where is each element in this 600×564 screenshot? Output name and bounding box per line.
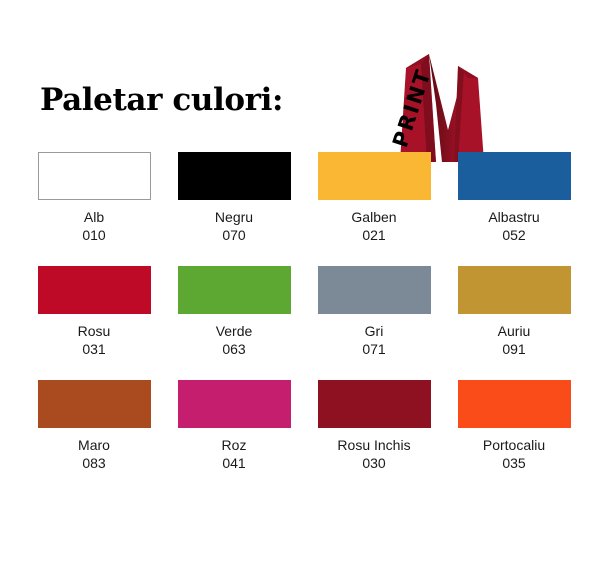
swatch-code: 031 [82, 340, 105, 358]
swatch-chip[interactable] [458, 380, 571, 428]
palette-row: Maro 083 Roz 041 Rosu Inchis 030 Portoca… [0, 380, 600, 472]
swatch-cell-negru[interactable]: Negru 070 [166, 152, 302, 244]
swatch-chip[interactable] [458, 152, 571, 200]
swatch-chip[interactable] [38, 152, 151, 200]
swatch-cell-alb[interactable]: Alb 010 [26, 152, 162, 244]
swatch-code: 070 [222, 226, 245, 244]
swatch-chip[interactable] [318, 152, 431, 200]
swatch-cell-roz[interactable]: Roz 041 [166, 380, 302, 472]
swatch-cell-rosu-inchis[interactable]: Rosu Inchis 030 [306, 380, 442, 472]
palette-row: Alb 010 Negru 070 Galben 021 Albastru 05… [0, 152, 600, 244]
swatch-code: 041 [222, 454, 245, 472]
swatch-cell-verde[interactable]: Verde 063 [166, 266, 302, 358]
swatch-cell-rosu[interactable]: Rosu 031 [26, 266, 162, 358]
print-m-logo: PRINT [368, 42, 488, 167]
swatch-name: Negru [215, 208, 253, 226]
swatch-code: 083 [82, 454, 105, 472]
swatch-name: Verde [216, 322, 253, 340]
swatch-code: 035 [502, 454, 525, 472]
swatch-chip[interactable] [38, 380, 151, 428]
swatch-cell-portocaliu[interactable]: Portocaliu 035 [446, 380, 582, 472]
swatch-code: 071 [362, 340, 385, 358]
swatch-name: Roz [222, 436, 247, 454]
swatch-name: Rosu Inchis [337, 436, 410, 454]
swatch-name: Auriu [498, 322, 531, 340]
swatch-code: 030 [362, 454, 385, 472]
swatch-name: Alb [84, 208, 104, 226]
swatch-code: 010 [82, 226, 105, 244]
page-header: Paletar culori: [0, 20, 600, 145]
swatch-cell-auriu[interactable]: Auriu 091 [446, 266, 582, 358]
swatch-chip[interactable] [178, 266, 291, 314]
swatch-code: 091 [502, 340, 525, 358]
swatch-chip[interactable] [178, 152, 291, 200]
swatch-chip[interactable] [318, 266, 431, 314]
swatch-chip[interactable] [458, 266, 571, 314]
color-palette-page: Paletar culori: [0, 0, 600, 564]
swatch-name: Portocaliu [483, 436, 545, 454]
swatch-chip[interactable] [178, 380, 291, 428]
swatch-cell-galben[interactable]: Galben 021 [306, 152, 442, 244]
swatch-code: 021 [362, 226, 385, 244]
swatch-name: Maro [78, 436, 110, 454]
swatch-name: Gri [365, 322, 384, 340]
swatch-code: 052 [502, 226, 525, 244]
swatch-chip[interactable] [318, 380, 431, 428]
swatch-chip[interactable] [38, 266, 151, 314]
swatch-name: Albastru [488, 208, 539, 226]
swatch-cell-albastru[interactable]: Albastru 052 [446, 152, 582, 244]
swatch-name: Rosu [78, 322, 111, 340]
swatch-cell-maro[interactable]: Maro 083 [26, 380, 162, 472]
swatch-code: 063 [222, 340, 245, 358]
swatch-cell-gri[interactable]: Gri 071 [306, 266, 442, 358]
palette-row: Rosu 031 Verde 063 Gri 071 Auriu 091 [0, 266, 600, 358]
swatch-name: Galben [351, 208, 396, 226]
page-title: Paletar culori: [40, 82, 283, 118]
palette-grid: Alb 010 Negru 070 Galben 021 Albastru 05… [0, 152, 600, 494]
